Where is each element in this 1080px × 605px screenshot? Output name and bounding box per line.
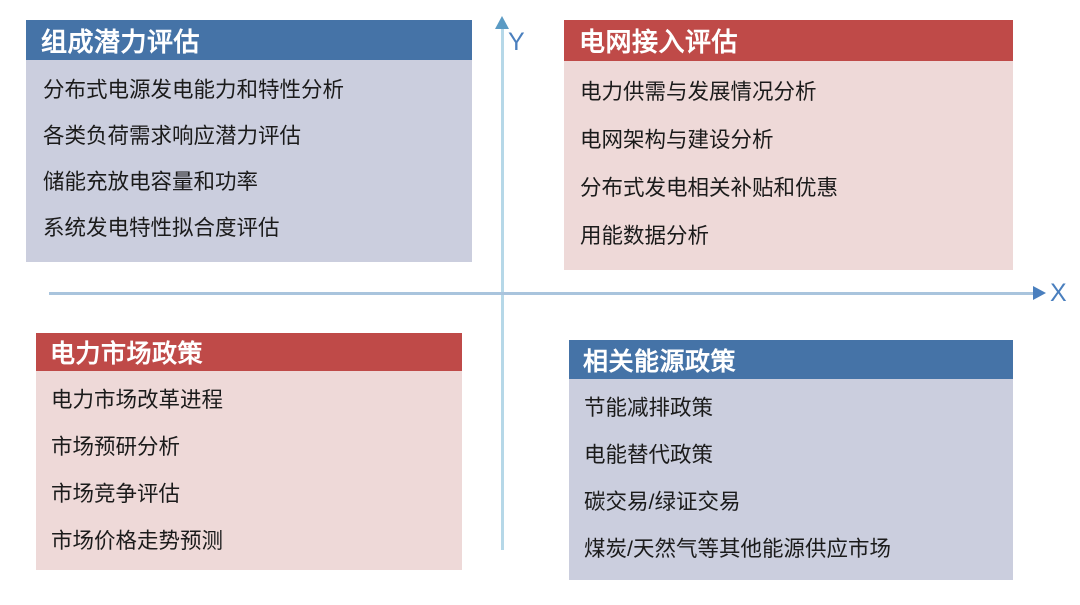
x-axis-label: X [1050,281,1067,306]
quadrant-panel-bottom-right: 相关能源政策 节能减排政策 电能替代政策 碳交易/绿证交易 煤炭/天然气等其他能… [569,340,1013,580]
quadrant-body-top-right: 电力供需与发展情况分析 电网架构与建设分析 分布式发电相关补贴和优惠 用能数据分… [564,61,1013,270]
list-item: 分布式电源发电能力和特性分析 [43,78,472,102]
quadrant-panel-top-left: 组成潜力评估 分布式电源发电能力和特性分析 各类负荷需求响应潜力评估 储能充放电… [26,20,472,262]
list-item: 储能充放电容量和功率 [43,170,472,194]
list-item: 系统发电特性拟合度评估 [43,216,472,240]
y-axis-label: Y [508,30,525,55]
quadrant-body-top-left: 分布式电源发电能力和特性分析 各类负荷需求响应潜力评估 储能充放电容量和功率 系… [26,60,472,262]
list-item: 煤炭/天然气等其他能源供应市场 [584,537,1013,561]
y-axis-arrow-icon [495,16,509,29]
quadrant-title-top-left: 组成潜力评估 [26,20,472,60]
list-item: 电力市场改革进程 [51,388,462,412]
list-item: 市场竞争评估 [51,482,462,506]
list-item: 电能替代政策 [584,443,1013,467]
quadrant-panel-bottom-left: 电力市场政策 电力市场改革进程 市场预研分析 市场竞争评估 市场价格走势预测 [36,333,462,570]
list-item: 市场预研分析 [51,435,462,459]
quadrant-panel-top-right: 电网接入评估 电力供需与发展情况分析 电网架构与建设分析 分布式发电相关补贴和优… [564,20,1013,270]
list-item: 节能减排政策 [584,396,1013,420]
quadrant-body-bottom-left: 电力市场改革进程 市场预研分析 市场竞争评估 市场价格走势预测 [36,371,462,570]
x-axis-arrow-icon [1033,286,1046,300]
list-item: 电网架构与建设分析 [580,128,1013,152]
quadrant-body-bottom-right: 节能减排政策 电能替代政策 碳交易/绿证交易 煤炭/天然气等其他能源供应市场 [569,379,1013,580]
quadrant-title-bottom-right: 相关能源政策 [569,340,1013,379]
x-axis-line [49,292,1038,295]
list-item: 用能数据分析 [580,224,1013,248]
list-item: 分布式发电相关补贴和优惠 [580,176,1013,200]
list-item: 各类负荷需求响应潜力评估 [43,124,472,148]
list-item: 碳交易/绿证交易 [584,490,1013,514]
quadrant-title-bottom-left: 电力市场政策 [36,333,462,371]
quadrant-diagram-canvas: Y X 组成潜力评估 分布式电源发电能力和特性分析 各类负荷需求响应潜力评估 储… [0,0,1080,605]
list-item: 市场价格走势预测 [51,529,462,553]
list-item: 电力供需与发展情况分析 [580,80,1013,104]
y-axis-line [501,26,504,550]
quadrant-title-top-right: 电网接入评估 [564,20,1013,61]
